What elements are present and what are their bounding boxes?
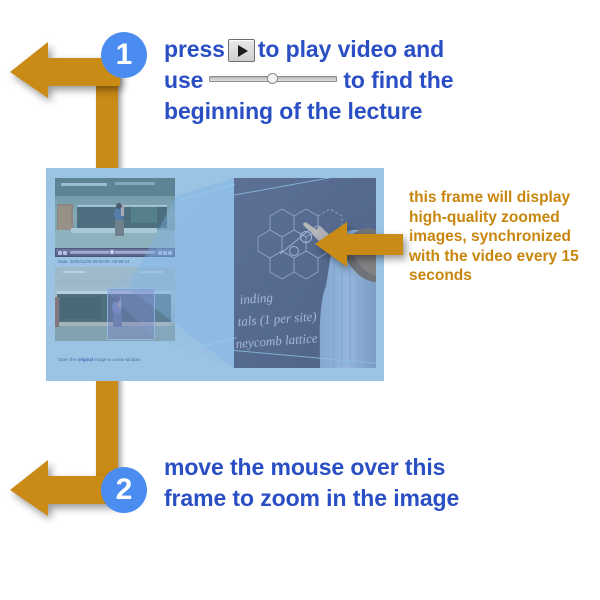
step1-line2-before: use bbox=[164, 67, 203, 93]
horizontal-slider-icon[interactable] bbox=[209, 72, 337, 85]
video-thumbnail-wide-shot[interactable] bbox=[55, 178, 175, 248]
note-line-5: the video every 15 bbox=[444, 248, 578, 265]
svg-text:inding: inding bbox=[239, 290, 274, 307]
step1-line1-before: press bbox=[164, 36, 225, 62]
step1-line3: beginning of the lecture bbox=[164, 96, 584, 127]
video-scrubber[interactable] bbox=[70, 251, 155, 254]
transport-buttons-left[interactable] bbox=[58, 251, 67, 255]
step1-instruction-text: pressto play video and useto find the be… bbox=[164, 34, 584, 127]
open-original-after: image in a new window. bbox=[93, 357, 141, 362]
step2-line1: move the mouse over this bbox=[164, 452, 584, 483]
transport-buttons-right[interactable] bbox=[158, 251, 172, 255]
high-quality-zoom-panel[interactable]: inding tals (1 per site) neycomb lattice bbox=[234, 178, 376, 368]
step1-line2-after: to find the bbox=[343, 67, 453, 93]
options-icon[interactable] bbox=[168, 251, 172, 255]
zoom-guide-line-top bbox=[177, 184, 235, 201]
fullscreen-icon[interactable] bbox=[163, 251, 167, 255]
step-badge-1: 1 bbox=[101, 32, 147, 78]
open-original-link-line[interactable]: Open the original image in a new window. bbox=[58, 357, 141, 362]
note-line-6: seconds bbox=[409, 267, 472, 284]
video-control-bar[interactable] bbox=[55, 248, 175, 257]
volume-icon[interactable] bbox=[158, 251, 162, 255]
note-line-1: this frame will bbox=[409, 189, 512, 206]
zoom-frame-annotation: this frame will display high-quality zoo… bbox=[409, 188, 589, 286]
step1-line1-after: to play video and bbox=[258, 36, 444, 62]
instruction-diagram: 1 2 pressto play video and useto find th… bbox=[0, 0, 600, 600]
lecture-player-screenshot[interactable]: Date: 2006/11/20 09:00:00 -09:59:44 bbox=[46, 168, 384, 381]
step1-line1: pressto play video and bbox=[164, 34, 584, 65]
open-original-link[interactable]: original bbox=[77, 357, 93, 362]
slider-thumb[interactable] bbox=[267, 73, 278, 84]
step-badge-2: 2 bbox=[101, 467, 147, 513]
open-original-before: Open the bbox=[58, 357, 77, 362]
play-control-icon[interactable] bbox=[58, 251, 62, 255]
step2-line2: frame to zoom in the image bbox=[164, 483, 584, 514]
play-button-icon[interactable] bbox=[228, 39, 255, 62]
zoom-guide-line-bottom bbox=[165, 337, 237, 356]
arrow-left-pointing-to-zoom-frame bbox=[313, 219, 405, 269]
zoom-selection-rectangle[interactable] bbox=[107, 288, 155, 340]
scrubber-thumb[interactable] bbox=[109, 249, 115, 255]
step2-instruction-text: move the mouse over this frame to zoom i… bbox=[164, 452, 584, 514]
step1-line2: useto find the bbox=[164, 65, 584, 96]
recording-date-label: Date: 2006/11/20 09:00:00 -09:59:44 bbox=[58, 259, 188, 264]
step-back-icon[interactable] bbox=[63, 251, 67, 255]
